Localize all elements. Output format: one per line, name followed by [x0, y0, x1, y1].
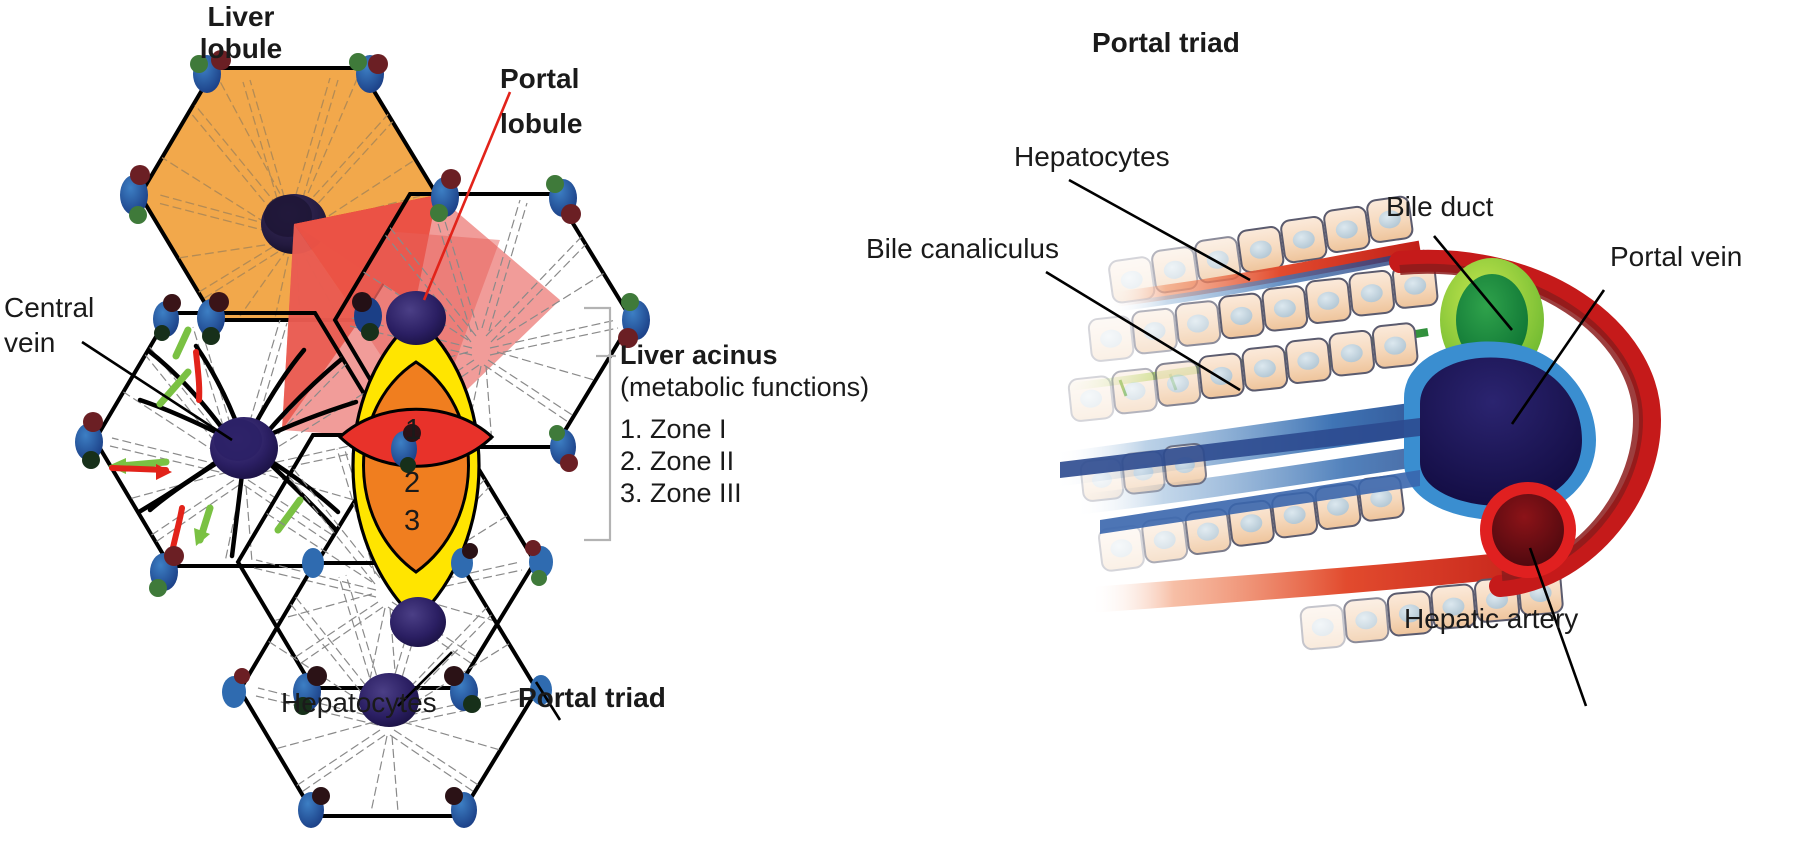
acinus-legend-item-0: 1. Zone I: [620, 414, 727, 446]
bile-duct-label: Bile duct: [1386, 190, 1493, 223]
hepatic-artery-label: Hepatic artery: [1404, 602, 1578, 635]
hepatic-artery: [1480, 482, 1576, 578]
liver-lobule-title-line1: Liver: [176, 0, 306, 33]
portal-lobule-label-line1: Portal: [500, 62, 579, 95]
blood-flow-arrows: [112, 352, 199, 552]
zone-number-1: 1: [405, 414, 421, 447]
acinus-legend-item-1: 2. Zone II: [620, 446, 734, 478]
portal-triad-title: Portal triad: [1092, 26, 1240, 59]
zone-number-3: 3: [404, 505, 420, 538]
acinus-bracket: [584, 308, 616, 540]
central-vein-label-line1: Central: [4, 291, 94, 324]
portal-triad-label-left: Portal triad: [518, 681, 666, 714]
hepatocytes-label-left: Hepatocytes: [281, 686, 437, 719]
portal-lobule-label-line2: lobule: [500, 107, 582, 140]
central-vein-acinus-top: [386, 291, 446, 345]
bile-canaliculus-label: Bile canaliculus: [866, 232, 1059, 265]
zone-number-2: 2: [404, 467, 420, 500]
central-vein-label-line2: vein: [4, 326, 55, 359]
acinus-legend-item-2: 3. Zone III: [620, 478, 742, 510]
acinus-legend-subheading: (metabolic functions): [620, 372, 869, 404]
figure-canvas: Liver lobule Portal lobule Central vein …: [0, 0, 1808, 854]
hepatocytes-label-right: Hepatocytes: [1014, 140, 1170, 173]
central-vein-acinus-bottom: [390, 597, 446, 647]
diagram-artwork: [0, 0, 1808, 854]
liver-lobule-title-line2: lobule: [176, 32, 306, 65]
portal-vein-label: Portal vein: [1610, 240, 1742, 273]
acinus-legend-heading: Liver acinus: [620, 340, 778, 372]
